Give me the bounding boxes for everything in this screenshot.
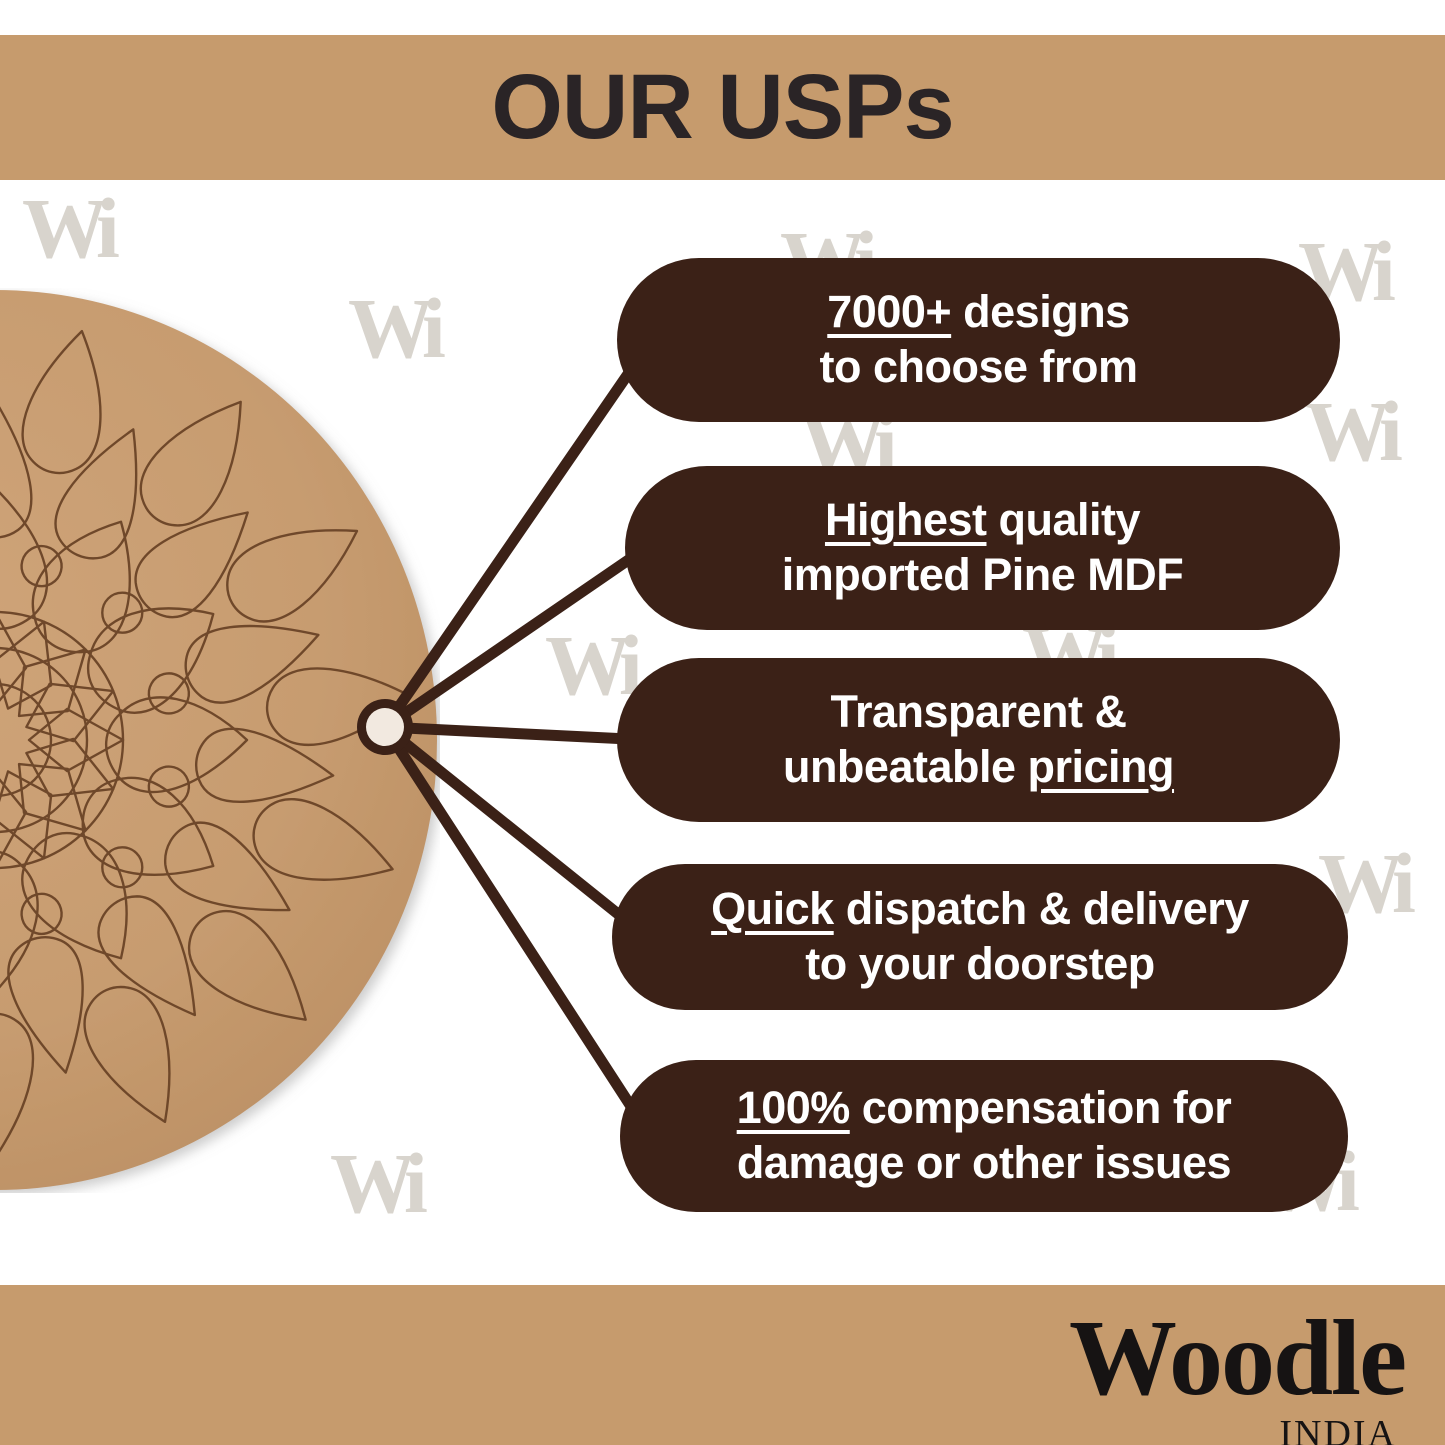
usp-emphasis: pricing: [1028, 741, 1175, 792]
usp-emphasis: Highest: [825, 494, 987, 545]
brand-name: Woodle: [985, 1305, 1405, 1413]
usp-card-dispatch[interactable]: Quick dispatch & delivery to your doorst…: [612, 864, 1348, 1010]
usp-line2: imported Pine MDF: [782, 549, 1184, 600]
usp-card-text: 7000+ designs to choose from: [789, 285, 1167, 395]
usp-line2-prefix: unbeatable: [783, 741, 1028, 792]
watermark-i-glyph: i: [1392, 840, 1416, 926]
usp-card-quality[interactable]: Highest quality imported Pine MDF: [625, 466, 1340, 630]
watermark-i-glyph: i: [1372, 228, 1396, 314]
watermark-i-glyph: i: [96, 185, 120, 271]
usp-card-pricing[interactable]: Transparent & unbeatable pricing: [617, 658, 1340, 822]
usp-line2: to choose from: [819, 341, 1137, 392]
usp-line1-rest: dispatch & delivery: [834, 883, 1249, 934]
brand-sublabel: INDIA: [985, 1415, 1397, 1445]
page-title: OUR USPs: [0, 35, 1445, 180]
usp-line2: damage or other issues: [737, 1137, 1231, 1188]
usp-card-text: Highest quality imported Pine MDF: [752, 493, 1214, 603]
usp-card-compensation[interactable]: 100% compensation for damage or other is…: [620, 1060, 1348, 1212]
usp-emphasis: Quick: [711, 883, 834, 934]
watermark-wi: Wi: [22, 185, 120, 271]
usp-card-text: Quick dispatch & delivery to your doorst…: [693, 882, 1267, 992]
infographic-canvas: Wi Wi Wi Wi Wi Wi Wi Wi Wi Wi Wi: [0, 0, 1445, 1445]
usp-line1-rest: quality: [986, 494, 1140, 545]
usp-emphasis: 100%: [737, 1082, 850, 1133]
usp-card-text: Transparent & unbeatable pricing: [753, 685, 1204, 795]
watermark-w-glyph: W: [545, 617, 625, 713]
watermark-w-glyph: W: [22, 180, 102, 276]
usp-line1: Transparent &: [830, 686, 1126, 737]
brand-logo: Woodle INDIA: [985, 1305, 1405, 1445]
usp-card-designs[interactable]: 7000+ designs to choose from: [617, 258, 1340, 422]
usp-line1-rest: designs: [951, 286, 1130, 337]
watermark-w-glyph: W: [1305, 383, 1385, 479]
usp-line2: to your doorstep: [805, 938, 1155, 989]
watermark-i-glyph: i: [1379, 388, 1403, 474]
watermark-wi: Wi: [1305, 388, 1403, 474]
usp-line1-rest: compensation for: [850, 1082, 1232, 1133]
mandala-wood-disc: [0, 288, 440, 1193]
usp-card-text: 100% compensation for damage or other is…: [719, 1081, 1250, 1191]
usp-emphasis: 7000+: [827, 286, 951, 337]
watermark-wi: Wi: [545, 622, 643, 708]
